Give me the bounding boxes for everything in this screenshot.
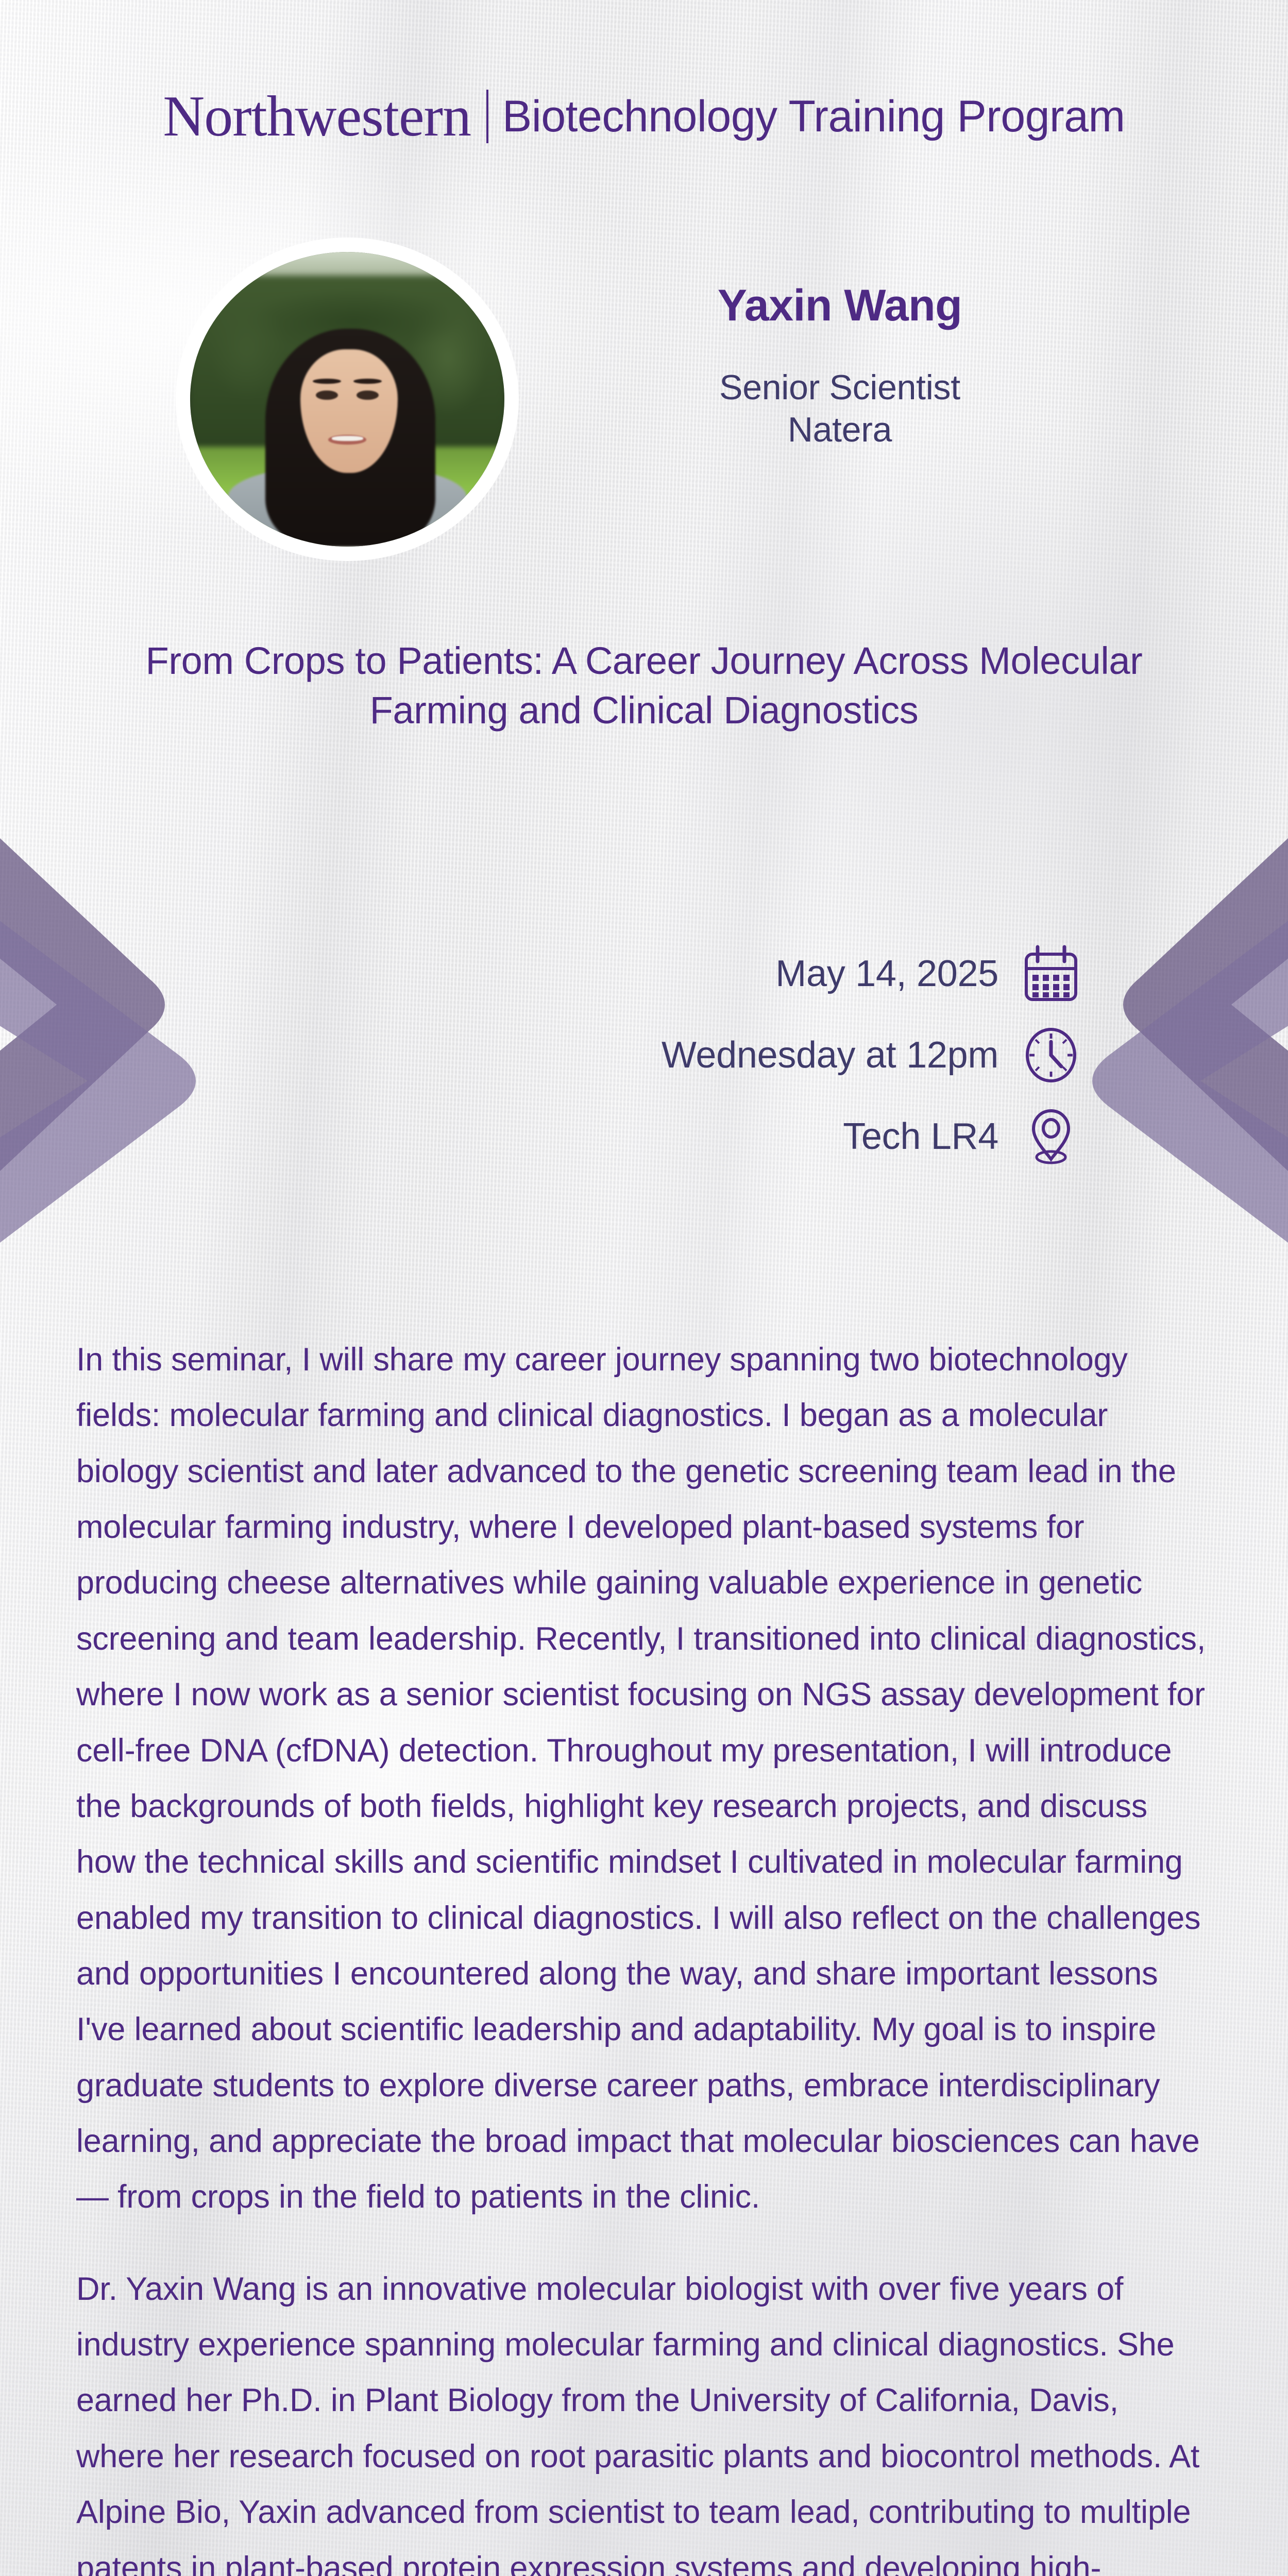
northwestern-lockup: Northwestern Biotechnology Training Prog… (163, 88, 1125, 145)
lockup-divider (486, 90, 488, 143)
calendar-icon (1020, 943, 1082, 1005)
speaker-name: Yaxin Wang (556, 283, 1123, 328)
location-pin-icon (1020, 1106, 1082, 1167)
abstract-paragraph: In this seminar, I will share my career … (76, 1332, 1215, 2225)
institution-name: Northwestern (163, 84, 471, 148)
event-location: Tech LR4 (206, 1118, 1020, 1155)
abstract-and-bio: In this seminar, I will share my career … (76, 1332, 1215, 2576)
speaker-organization: Natera (556, 410, 1123, 450)
speaker-section: Yaxin Wang Senior Scientist Natera (0, 234, 1288, 554)
poster-header: Northwestern Biotechnology Training Prog… (0, 88, 1288, 145)
detail-row-location: Tech LR4 (206, 1106, 1082, 1167)
speaker-photo-frame (183, 245, 512, 554)
event-date: May 14, 2025 (206, 955, 1020, 992)
program-name: Biotechnology Training Program (502, 92, 1125, 141)
speaker-info: Yaxin Wang Senior Scientist Natera (556, 234, 1123, 450)
detail-row-time: Wednesday at 12pm (206, 1024, 1082, 1086)
bio-paragraph: Dr. Yaxin Wang is an innovative molecula… (76, 2261, 1215, 2576)
event-details: May 14, 2025 (0, 943, 1288, 1187)
seminar-poster: Northwestern Biotechnology Training Prog… (0, 0, 1288, 2576)
event-time: Wednesday at 12pm (206, 1037, 1020, 1074)
talk-title: From Crops to Patients: A Career Journey… (129, 636, 1159, 735)
detail-row-date: May 14, 2025 (206, 943, 1082, 1005)
clock-icon (1020, 1024, 1082, 1086)
speaker-role: Senior Scientist (556, 368, 1123, 408)
speaker-photo (190, 252, 504, 547)
